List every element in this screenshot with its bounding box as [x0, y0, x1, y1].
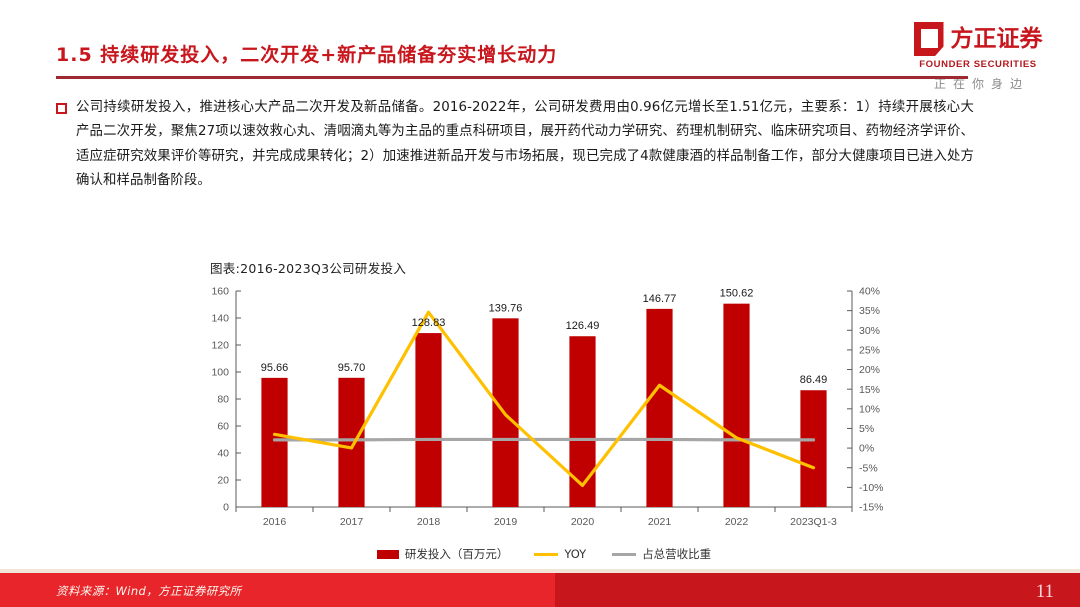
legend-label: 占总营收比重 — [642, 546, 711, 562]
body-paragraph: 公司持续研发投入，推进核心大产品二次开发及新品储备。2016-2022年，公司研… — [76, 96, 974, 194]
page-title: 1.5 持续研发投入，二次开发+新产品储备夯实增长动力 — [56, 40, 557, 67]
footer-right-band — [555, 573, 1080, 607]
svg-text:86.49: 86.49 — [800, 374, 828, 386]
svg-text:-15%: -15% — [859, 502, 884, 514]
company-logo: 方正证券 FOUNDER SECURITIES 正在你身边 — [898, 22, 1058, 92]
svg-text:35%: 35% — [859, 305, 880, 317]
svg-text:139.76: 139.76 — [489, 302, 523, 314]
legend-item-0[interactable]: 研发投入（百万元） — [377, 546, 509, 562]
svg-text:120: 120 — [211, 340, 229, 352]
svg-text:126.49: 126.49 — [566, 320, 600, 332]
svg-text:25%: 25% — [859, 345, 880, 357]
svg-text:2022: 2022 — [725, 516, 749, 528]
logo-row: 方正证券 — [898, 22, 1058, 56]
plot-area: 020406080100120140160-15%-10%-5%0%5%10%1… — [184, 285, 904, 540]
svg-text:0%: 0% — [859, 443, 874, 455]
chart-container: 图表:2016-2023Q3公司研发投入 0204060801001201401… — [184, 258, 904, 576]
founder-mark-icon — [914, 22, 944, 56]
source-note: 资料来源：Wind，方正证券研究所 — [56, 583, 241, 599]
legend-swatch-line — [534, 553, 558, 556]
svg-text:160: 160 — [211, 286, 229, 298]
svg-text:15%: 15% — [859, 384, 880, 396]
svg-text:146.77: 146.77 — [643, 293, 677, 305]
legend-label: YOY — [564, 547, 586, 561]
svg-text:95.70: 95.70 — [338, 362, 366, 374]
footer-bar: 资料来源：Wind，方正证券研究所 11 — [0, 573, 1080, 607]
svg-text:40: 40 — [217, 448, 229, 460]
legend-swatch-line — [612, 553, 636, 556]
svg-text:2016: 2016 — [263, 516, 287, 528]
svg-text:100: 100 — [211, 367, 229, 379]
svg-text:2023Q1-3: 2023Q1-3 — [790, 516, 837, 528]
svg-text:10%: 10% — [859, 403, 880, 415]
svg-text:2018: 2018 — [417, 516, 441, 528]
chart-svg: 020406080100120140160-15%-10%-5%0%5%10%1… — [184, 285, 904, 540]
chart-legend: 研发投入（百万元）YOY占总营收比重 — [184, 546, 904, 562]
svg-text:140: 140 — [211, 313, 229, 325]
svg-text:20%: 20% — [859, 364, 880, 376]
svg-text:150.62: 150.62 — [720, 288, 754, 300]
title-divider — [56, 76, 968, 79]
legend-item-2[interactable]: 占总营收比重 — [612, 546, 711, 562]
svg-text:30%: 30% — [859, 325, 880, 337]
svg-text:2019: 2019 — [494, 516, 518, 528]
legend-swatch-bar — [377, 550, 399, 559]
svg-text:2021: 2021 — [648, 516, 672, 528]
svg-text:5%: 5% — [859, 423, 874, 435]
svg-text:2020: 2020 — [571, 516, 595, 528]
body-block: 公司持续研发投入，推进核心大产品二次开发及新品储备。2016-2022年，公司研… — [56, 96, 974, 194]
svg-text:60: 60 — [217, 421, 229, 433]
svg-text:-5%: -5% — [859, 462, 878, 474]
logo-name-cn: 方正证券 — [951, 28, 1043, 51]
square-bullet-icon — [56, 103, 67, 114]
svg-text:2017: 2017 — [340, 516, 364, 528]
legend-item-1[interactable]: YOY — [534, 547, 586, 561]
page-number: 11 — [1036, 581, 1054, 603]
logo-name-en: FOUNDER SECURITIES — [898, 59, 1058, 70]
svg-text:95.66: 95.66 — [261, 362, 289, 374]
chart-title: 图表:2016-2023Q3公司研发投入 — [210, 258, 904, 277]
svg-text:-10%: -10% — [859, 482, 884, 494]
svg-text:20: 20 — [217, 475, 229, 487]
svg-text:0: 0 — [223, 502, 229, 514]
svg-text:80: 80 — [217, 394, 229, 406]
svg-text:128.83: 128.83 — [412, 317, 446, 329]
slide: 方正证券 FOUNDER SECURITIES 正在你身边 1.5 持续研发投入… — [0, 0, 1080, 607]
svg-text:40%: 40% — [859, 286, 880, 298]
legend-label: 研发投入（百万元） — [405, 546, 509, 562]
